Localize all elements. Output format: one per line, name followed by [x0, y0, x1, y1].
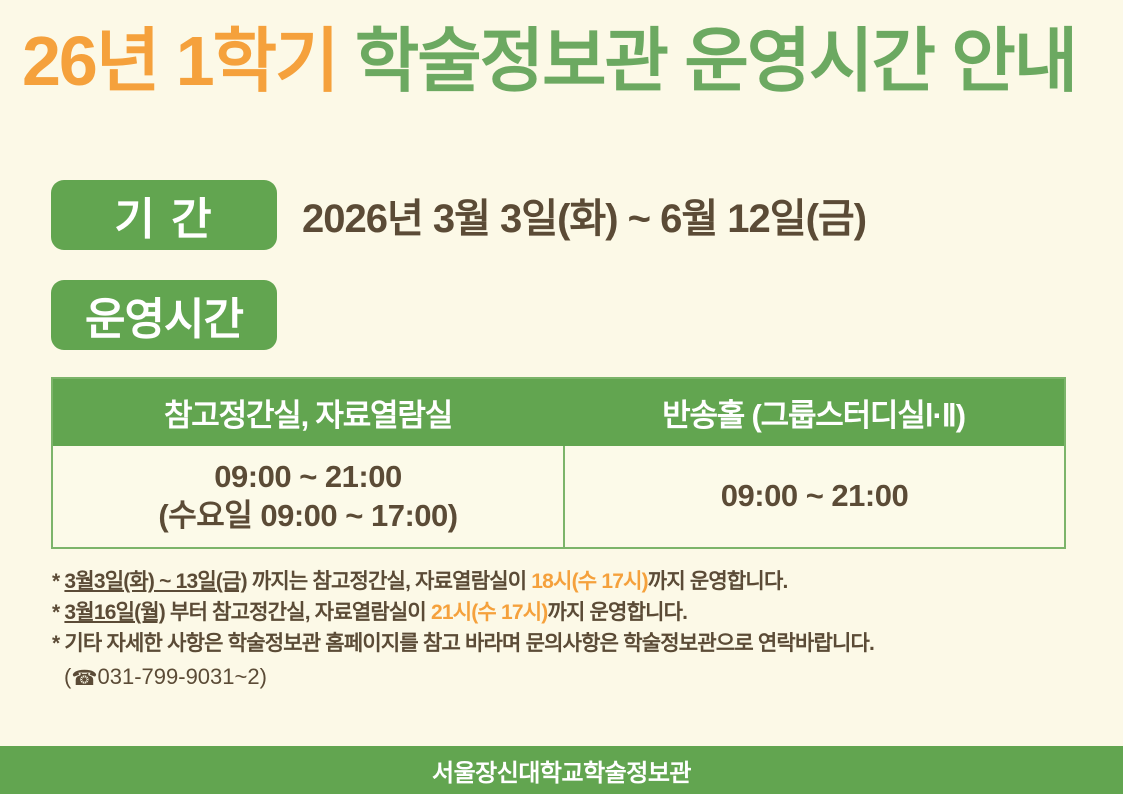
hours-label-badge: 운영시간 — [51, 280, 277, 350]
note-2-tail: 까지 운영합니다. — [547, 601, 687, 624]
table-header-row: 참고정간실, 자료열람실 반송홀 (그룹스터디실Ⅰ·Ⅱ) — [53, 379, 1064, 446]
page-title-highlight: 26년 1학기 — [22, 22, 337, 100]
operating-hours-table: 참고정간실, 자료열람실 반송홀 (그룹스터디실Ⅰ·Ⅱ) 09:00 ~ 21:… — [51, 377, 1066, 549]
period-value: 2026년 3월 3일(화) ~ 6월 12일(금) — [302, 186, 866, 244]
table-cell-bansong-hall-hours: 09:00 ~ 21:00 — [563, 446, 1064, 547]
period-label-badge: 기 간 — [51, 180, 277, 250]
poster-notice: 26년 1학기 학술정보관 운영시간 안내 기 간 2026년 3월 3일(화)… — [0, 0, 1123, 794]
footer-bar: 서울장신대학교학술정보관 — [0, 746, 1123, 794]
telephone-icon: ☎ — [71, 663, 97, 695]
phone-paren-close: ) — [260, 664, 267, 689]
page-title: 26년 1학기 학술정보관 운영시간 안내 — [22, 26, 1112, 96]
note-1-underlined-dates: 3월3일(화) ~ 13일(금) — [64, 570, 246, 593]
note-1-tail: 까지 운영합니다. — [648, 570, 788, 593]
note-2-middle: 부터 참고정간실, 자료열람실이 — [165, 601, 431, 624]
contact-phone: (☎031-799-9031~2) — [52, 660, 1092, 694]
footer-institution-name: 서울장신대학교학술정보관 — [432, 753, 691, 788]
note-1-middle: 까지는 참고정간실, 자료열람실이 — [247, 570, 531, 593]
reading-rooms-hours-wednesday: (수요일 09:00 ~ 17:00) — [158, 497, 457, 536]
phone-number: 031-799-9031~2 — [98, 664, 260, 689]
bansong-hall-hours-primary: 09:00 ~ 21:00 — [721, 477, 908, 516]
notes-list: * 3월3일(화) ~ 13일(금) 까지는 참고정간실, 자료열람실이 18시… — [52, 567, 1092, 693]
note-item-1: * 3월3일(화) ~ 13일(금) 까지는 참고정간실, 자료열람실이 18시… — [52, 567, 1092, 598]
note-1-highlight-time: 18시(수 17시) — [531, 570, 648, 593]
note-1-bullet: * — [52, 570, 64, 593]
table-header-cell-bansong-hall: 반송홀 (그룹스터디실Ⅰ·Ⅱ) — [563, 379, 1064, 446]
table-cell-reading-rooms-hours: 09:00 ~ 21:00 (수요일 09:00 ~ 17:00) — [53, 446, 563, 547]
hours-label-text: 운영시간 — [85, 283, 243, 347]
note-item-2: * 3월16일(월) 부터 참고정간실, 자료열람실이 21시(수 17시)까지… — [52, 598, 1092, 629]
table-header-cell-reading-rooms: 참고정간실, 자료열람실 — [53, 379, 563, 446]
note-2-bullet: * — [52, 601, 64, 624]
phone-paren-open: ( — [64, 664, 71, 689]
reading-rooms-hours-primary: 09:00 ~ 21:00 — [214, 458, 401, 497]
note-2-highlight-time: 21시(수 17시) — [431, 601, 548, 624]
table-row: 09:00 ~ 21:00 (수요일 09:00 ~ 17:00) 09:00 … — [53, 446, 1064, 547]
note-2-underlined-date: 3월16일(월) — [64, 601, 165, 624]
note-item-3: * 기타 자세한 사항은 학술정보관 홈페이지를 참고 바라며 문의사항은 학술… — [52, 629, 1092, 660]
period-label-text: 기 간 — [114, 183, 213, 247]
page-title-rest: 학술정보관 운영시간 안내 — [337, 22, 1076, 100]
